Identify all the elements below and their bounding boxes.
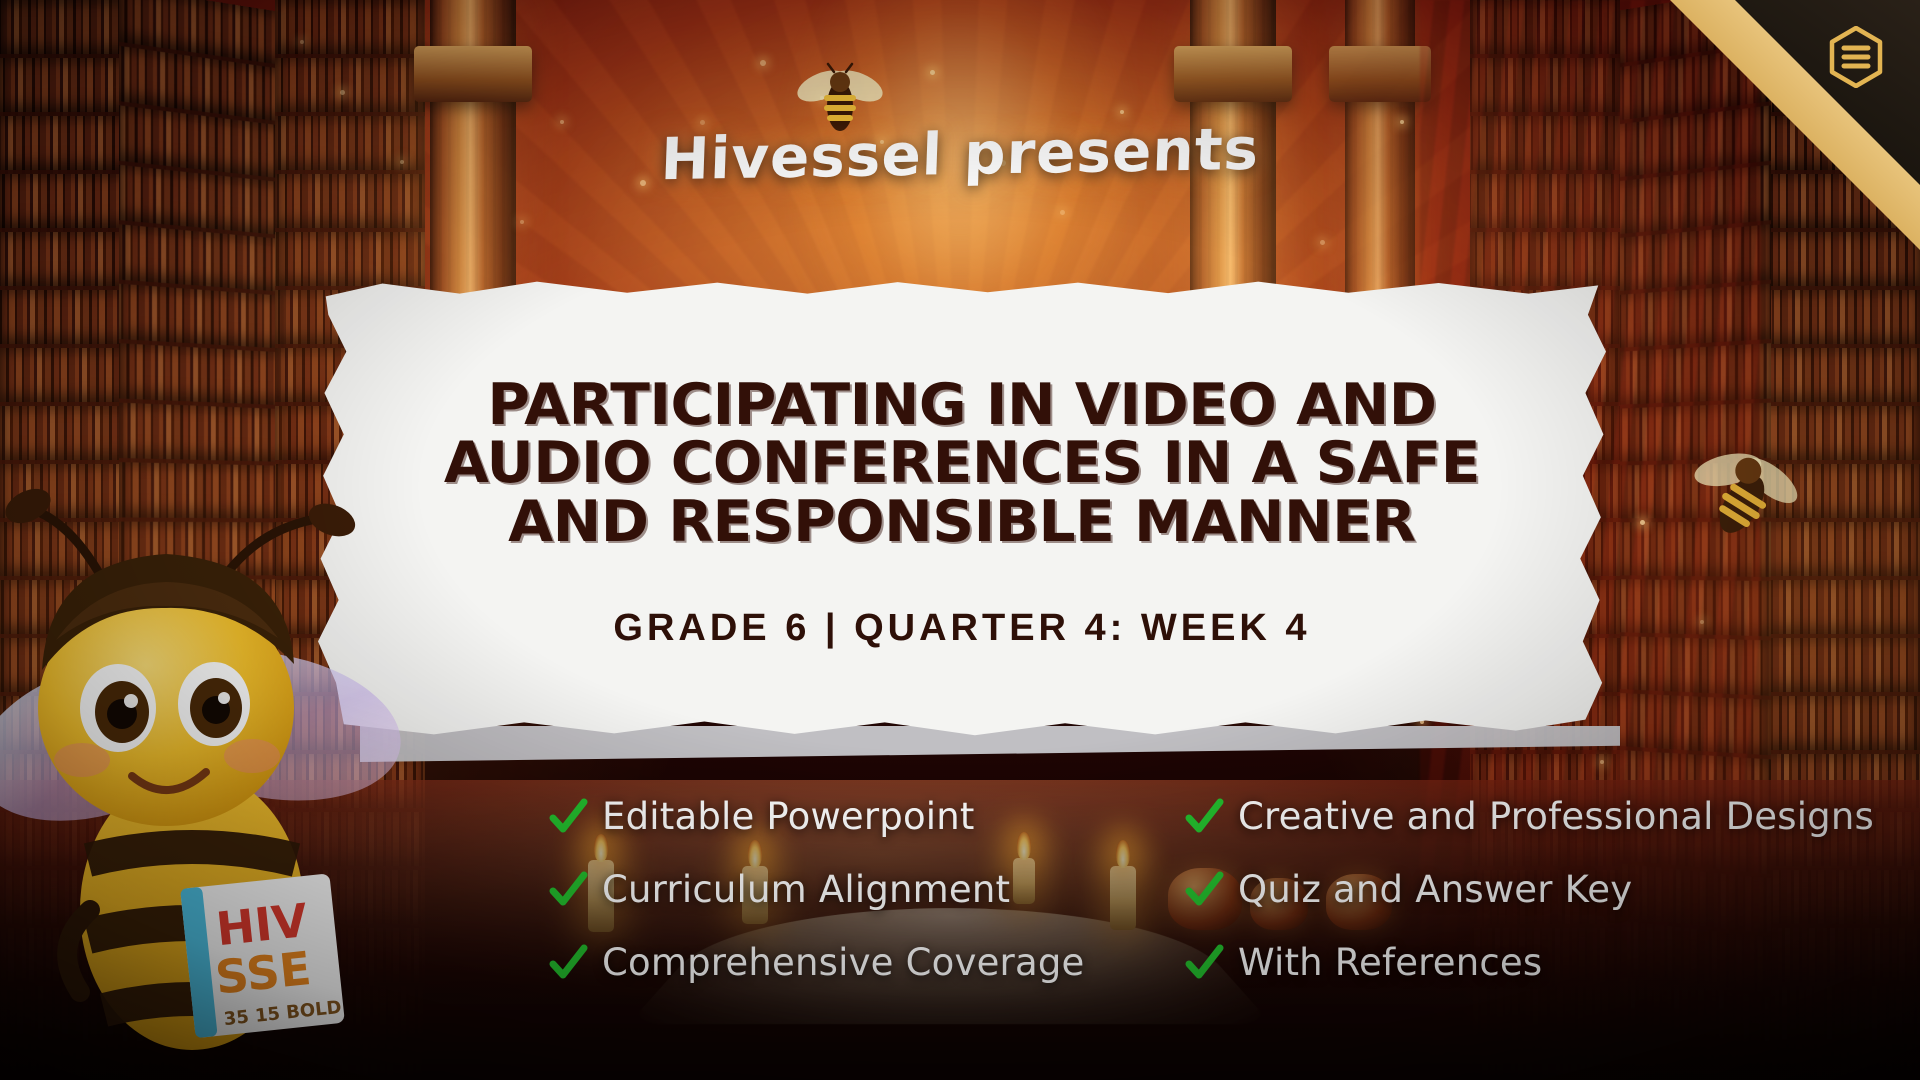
list-item: Quiz and Answer Key — [1184, 868, 1888, 911]
hivessel-hexagon-logo-icon[interactable] — [1828, 26, 1884, 88]
check-icon — [1184, 870, 1224, 910]
presentation-slide: Hivessel presents PARTICIPATING IN VIDEO… — [0, 0, 1920, 1080]
title-card: PARTICIPATING IN VIDEO AND AUDIO CONFERE… — [318, 278, 1606, 738]
feature-label: With References — [1238, 941, 1542, 984]
check-icon — [548, 943, 588, 983]
check-icon — [1184, 797, 1224, 837]
brand-presents-header: Hivessel presents — [0, 120, 1920, 188]
feature-label: Editable Powerpoint — [602, 795, 975, 838]
title-line-2: AUDIO CONFERENCES IN A SAFE — [444, 434, 1480, 492]
feature-label: Creative and Professional Designs — [1238, 795, 1874, 838]
list-item: Curriculum Alignment — [548, 868, 1168, 911]
feature-label: Curriculum Alignment — [602, 868, 1010, 911]
grade-quarter-week-subtitle: GRADE 6 | QUARTER 4: WEEK 4 — [613, 607, 1310, 650]
feature-label: Quiz and Answer Key — [1238, 868, 1632, 911]
check-icon — [548, 870, 588, 910]
list-item: Comprehensive Coverage — [548, 941, 1168, 984]
list-item: Creative and Professional Designs — [1184, 795, 1888, 838]
page-title: PARTICIPATING IN VIDEO AND AUDIO CONFERE… — [444, 376, 1480, 550]
svg-text:SSE: SSE — [213, 941, 314, 1005]
list-item: With References — [1184, 941, 1888, 984]
feature-list: Editable Powerpoint Creative and Profess… — [548, 795, 1888, 984]
title-line-3: AND RESPONSIBLE MANNER — [444, 493, 1480, 551]
bee-mascot: HIV SSE 35 15 BOLD — [0, 440, 510, 1080]
list-item: Editable Powerpoint — [548, 795, 1168, 838]
check-icon — [548, 797, 588, 837]
title-line-1: PARTICIPATING IN VIDEO AND — [444, 376, 1480, 434]
presents-text: Hivessel presents — [660, 115, 1261, 193]
feature-label: Comprehensive Coverage — [602, 941, 1084, 984]
check-icon — [1184, 943, 1224, 983]
